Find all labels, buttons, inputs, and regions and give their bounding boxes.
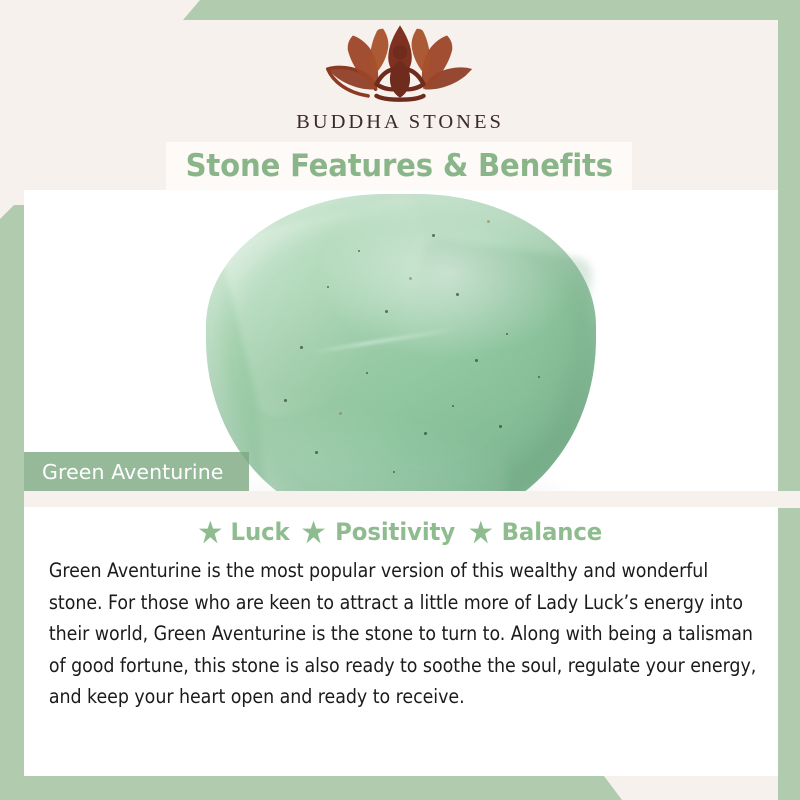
benefit-item: Positivity	[302, 518, 458, 546]
frame-left-band	[0, 205, 24, 800]
brand-name: BUDDHA STONES	[296, 111, 504, 134]
stone-photo	[24, 190, 778, 495]
star-icon	[302, 521, 325, 544]
benefit-item: Balance	[469, 518, 605, 546]
star-icon	[469, 521, 492, 544]
content-panel: Luck Positivity Balance Green Aventurine…	[24, 507, 778, 776]
lotus-meditation-figure-icon	[316, 22, 484, 106]
title-banner: Stone Features & Benefits	[166, 142, 632, 190]
page-title: Stone Features & Benefits	[185, 148, 612, 184]
benefit-item: Luck	[199, 518, 291, 546]
stone-name-label: Green Aventurine	[24, 452, 249, 491]
frame-bottom-band	[0, 776, 800, 800]
benefits-list: Luck Positivity Balance	[38, 518, 760, 546]
star-icon	[199, 521, 222, 544]
brand-header: BUDDHA STONES	[0, 0, 800, 148]
benefit-label: Positivity	[335, 518, 455, 546]
benefit-label: Luck	[230, 518, 289, 546]
section-divider	[0, 491, 800, 508]
stone-name-text: Green Aventurine	[42, 460, 224, 484]
infographic-page: BUDDHA STONES Stone Features & Benefits	[0, 0, 800, 800]
benefit-label: Balance	[502, 518, 603, 546]
stone-speckles	[206, 194, 596, 495]
green-aventurine-stone	[206, 194, 596, 495]
stone-description: Green Aventurine is the most popular ver…	[38, 555, 760, 713]
stone-image	[206, 194, 596, 495]
